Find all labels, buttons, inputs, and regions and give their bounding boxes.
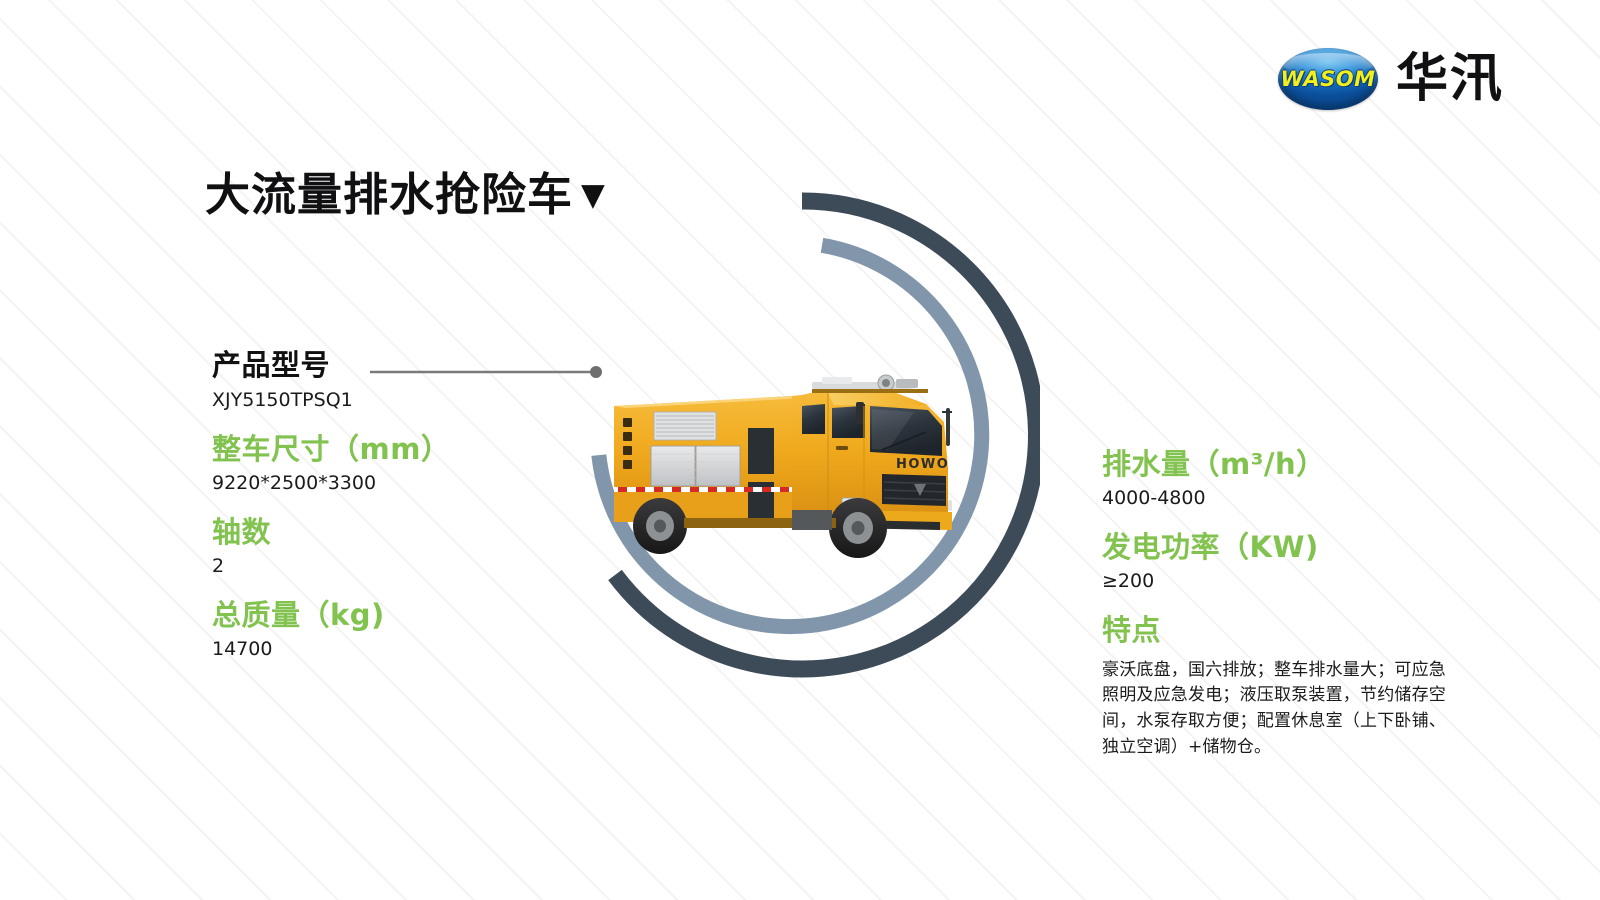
spec-value-dimensions: 9220*2500*3300	[212, 472, 612, 496]
drainage-rescue-truck-photo: HOWO	[596, 360, 1016, 575]
truck-louver-vent	[654, 412, 716, 440]
truck-box-body	[614, 396, 803, 522]
truck-grille	[882, 474, 946, 506]
page-title-text: 大流量排水抢险车	[205, 168, 573, 221]
spec-label-drainage-rate: 排水量（m³/h）	[1102, 448, 1482, 481]
wasom-ellipse-logo-icon: WASOM	[1278, 48, 1378, 110]
spec-label-features: 特点	[1102, 614, 1482, 647]
truck-rear-locker	[748, 428, 774, 474]
spec-value-gross-mass: 14700	[212, 638, 612, 662]
spec-value-model: XJY5150TPSQ1	[212, 389, 612, 413]
spec-value-drainage-rate: 4000-4800	[1102, 487, 1482, 511]
truck-sleeper-window	[802, 404, 825, 434]
spec-label-gross-mass: 总质量（kg)	[212, 599, 612, 632]
features-description: 豪沃底盘，国六排放；整车排水量大；可应急照明及应急发电；液压取泵装置，节约储存空…	[1102, 658, 1462, 761]
logo-wordmark: WASOM	[1280, 67, 1375, 91]
spec-label-axles: 轴数	[212, 516, 612, 549]
slide-canvas: WASOM 华汛 大流量排水抢险车▼	[0, 0, 1600, 900]
spec-column-left: 产品型号 XJY5150TPSQ1 整车尺寸（mm） 9220*2500*330…	[212, 350, 612, 662]
spec-value-generator-power: ≥200	[1102, 570, 1482, 594]
company-name-cn: 华汛	[1396, 53, 1504, 105]
spec-label-dimensions: 整车尺寸（mm）	[212, 433, 612, 466]
spec-value-axles: 2	[212, 555, 612, 579]
truck-brand-wordmark: HOWO	[896, 457, 949, 472]
brand-logo: WASOM 华汛	[1278, 48, 1504, 110]
truck-reflective-stripe	[614, 487, 792, 492]
truck-roof-light-bar	[812, 375, 928, 393]
spec-label-model: 产品型号	[212, 350, 612, 382]
spec-label-generator-power: 发电功率（KW)	[1102, 531, 1482, 564]
spec-column-right: 排水量（m³/h） 4000-4800 发电功率（KW) ≥200 特点 豪沃底…	[1102, 448, 1482, 761]
truck-headlight-right	[948, 500, 952, 511]
